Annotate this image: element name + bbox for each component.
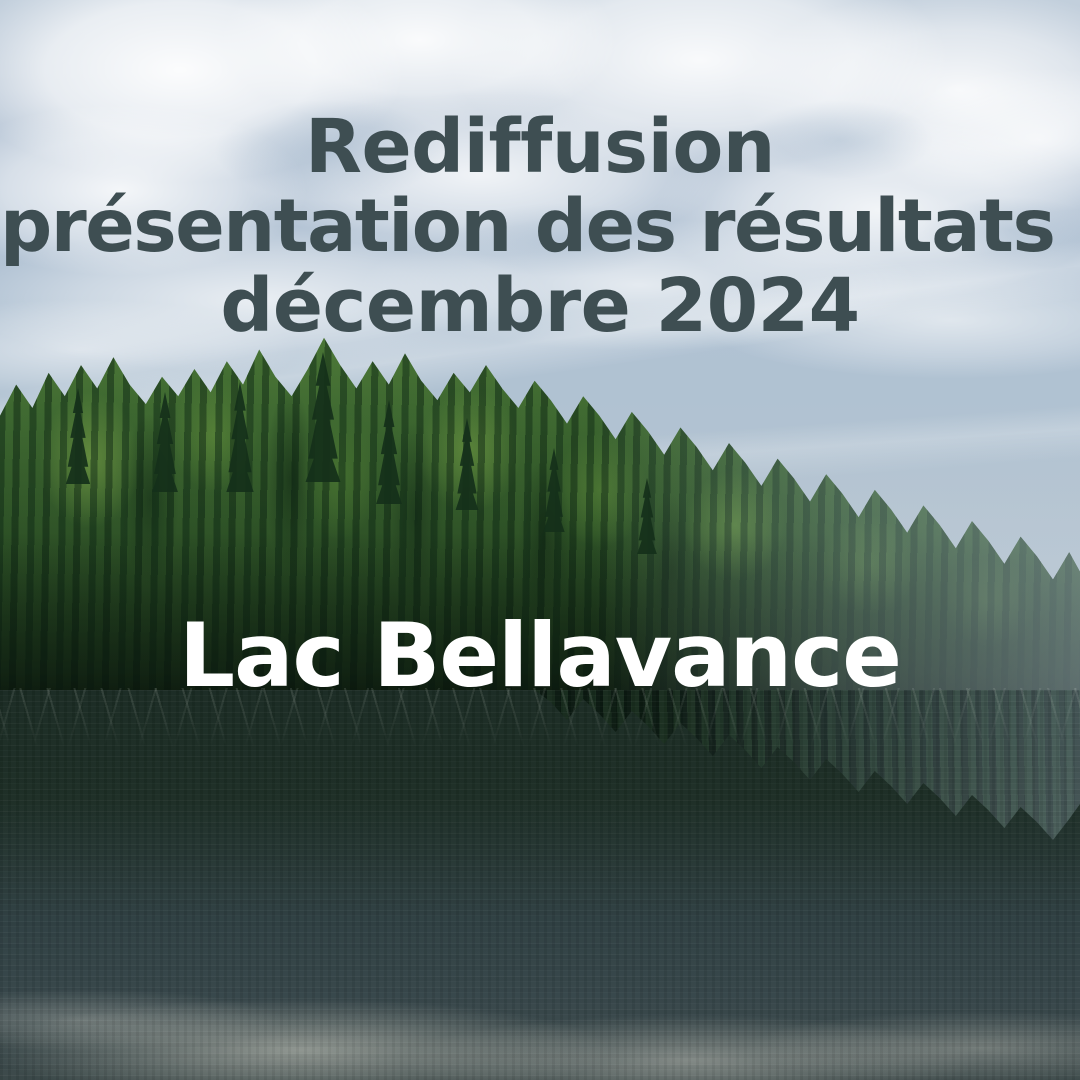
title-line-1: Rediffusion — [0, 108, 1080, 188]
title-line-2: présentation des résultats de — [0, 188, 1080, 267]
title-slide: Rediffusion présentation des résultats d… — [0, 0, 1080, 1080]
water-vertical-smear — [0, 690, 1080, 1080]
lake-name: Lac Bellavance — [0, 604, 1080, 707]
title-line-3: décembre 2024 — [0, 267, 1080, 347]
event-title: Rediffusion présentation des résultats d… — [0, 108, 1080, 347]
